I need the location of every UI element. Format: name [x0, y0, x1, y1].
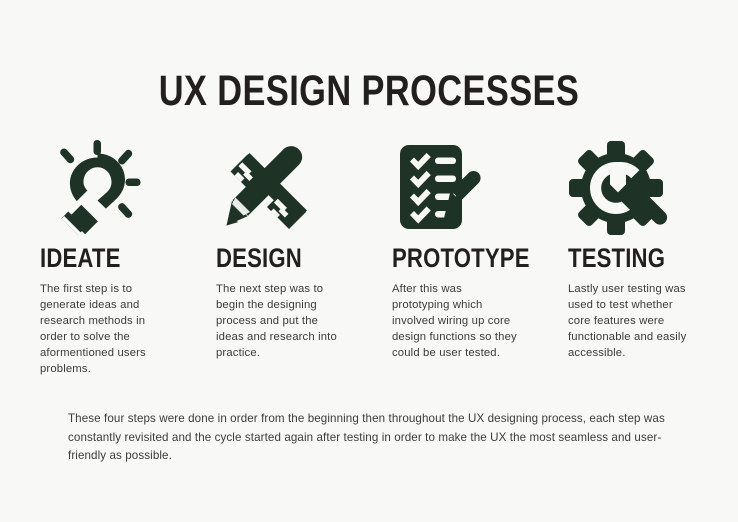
- step-body-ideate: The first step is to generate ideas and …: [40, 281, 165, 377]
- step-body-prototype: After this was prototyping which involve…: [392, 281, 517, 361]
- step-body-testing: Lastly user testing was used to test whe…: [568, 281, 693, 361]
- step-column-prototype: PROTOTYPE After this was prototyping whi…: [392, 140, 532, 361]
- ux-design-processes-poster: UX DESIGN PROCESSES: [0, 0, 738, 522]
- step-heading-prototype: PROTOTYPE: [392, 244, 507, 272]
- step-heading-design: DESIGN: [216, 244, 331, 272]
- summary-paragraph: These four steps were done in order from…: [68, 410, 672, 466]
- step-heading-testing: TESTING: [568, 244, 683, 272]
- step-heading-ideate: IDEATE: [40, 244, 155, 272]
- step-column-ideate: IDEATE The first step is to generate ide…: [40, 140, 180, 377]
- step-body-design: The next step was to begin the designing…: [216, 281, 341, 361]
- page-title: UX DESIGN PROCESSES: [74, 70, 664, 113]
- gear-wrench-icon: [568, 140, 708, 236]
- lightbulb-icon: [40, 140, 180, 236]
- step-column-testing: TESTING Lastly user testing was used to …: [568, 140, 708, 361]
- steps-row: IDEATE The first step is to generate ide…: [40, 140, 708, 377]
- step-column-design: DESIGN The next step was to begin the de…: [216, 140, 356, 361]
- checklist-pencil-icon: [392, 140, 532, 236]
- pencil-ruler-icon: [216, 140, 356, 236]
